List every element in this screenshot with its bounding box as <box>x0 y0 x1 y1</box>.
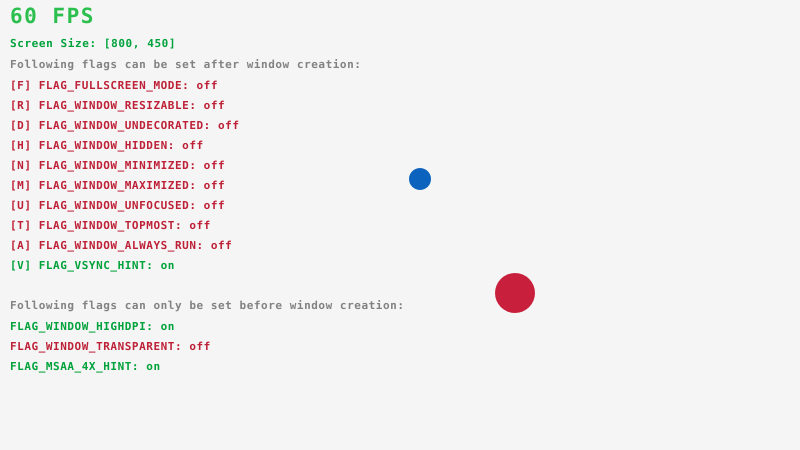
flag-row-flag-window-unfocused[interactable]: [U] FLAG_WINDOW_UNFOCUSED: off <box>10 199 225 212</box>
flag-label: [R] FLAG_WINDOW_RESIZABLE: off <box>10 99 225 112</box>
section-heading-after-creation: Following flags can be set after window … <box>10 58 361 71</box>
fps-counter: 60 FPS <box>10 3 95 29</box>
flag-label: [N] FLAG_WINDOW_MINIMIZED: off <box>10 159 225 172</box>
flag-row-flag-window-topmost[interactable]: [T] FLAG_WINDOW_TOPMOST: off <box>10 219 211 232</box>
flag-label: FLAG_WINDOW_TRANSPARENT: off <box>10 340 211 353</box>
flag-row-flag-window-highdpi[interactable]: FLAG_WINDOW_HIGHDPI: on <box>10 320 175 333</box>
screen-size-label: Screen Size: [800, 450] <box>10 37 176 50</box>
flag-label: [M] FLAG_WINDOW_MAXIMIZED: off <box>10 179 225 192</box>
flag-label: [F] FLAG_FULLSCREEN_MODE: off <box>10 79 218 92</box>
flag-row-flag-window-maximized[interactable]: [M] FLAG_WINDOW_MAXIMIZED: off <box>10 179 225 192</box>
flag-label: FLAG_MSAA_4X_HINT: on <box>10 360 161 373</box>
flag-row-flag-window-minimized[interactable]: [N] FLAG_WINDOW_MINIMIZED: off <box>10 159 225 172</box>
flag-row-flag-window-always-run[interactable]: [A] FLAG_WINDOW_ALWAYS_RUN: off <box>10 239 232 252</box>
flag-label: [U] FLAG_WINDOW_UNFOCUSED: off <box>10 199 225 212</box>
flag-row-flag-fullscreen-mode[interactable]: [F] FLAG_FULLSCREEN_MODE: off <box>10 79 218 92</box>
bouncing-ball-red <box>495 273 535 313</box>
flag-label: [A] FLAG_WINDOW_ALWAYS_RUN: off <box>10 239 232 252</box>
section-heading-before-creation: Following flags can only be set before w… <box>10 299 405 312</box>
flag-row-flag-vsync-hint[interactable]: [V] FLAG_VSYNC_HINT: on <box>10 259 175 272</box>
flag-row-flag-window-hidden[interactable]: [H] FLAG_WINDOW_HIDDEN: off <box>10 139 204 152</box>
flag-label: [D] FLAG_WINDOW_UNDECORATED: off <box>10 119 240 132</box>
flag-row-flag-window-resizable[interactable]: [R] FLAG_WINDOW_RESIZABLE: off <box>10 99 225 112</box>
flag-row-flag-window-undecorated[interactable]: [D] FLAG_WINDOW_UNDECORATED: off <box>10 119 240 132</box>
bouncing-ball-blue <box>409 168 431 190</box>
flag-label: [V] FLAG_VSYNC_HINT: on <box>10 259 175 272</box>
flag-row-flag-window-transparent[interactable]: FLAG_WINDOW_TRANSPARENT: off <box>10 340 211 353</box>
flag-label: [T] FLAG_WINDOW_TOPMOST: off <box>10 219 211 232</box>
raylib-window-canvas[interactable]: 60 FPS Screen Size: [800, 450] Following… <box>0 0 800 450</box>
flag-row-flag-msaa-4x-hint[interactable]: FLAG_MSAA_4X_HINT: on <box>10 360 161 373</box>
flag-label: FLAG_WINDOW_HIGHDPI: on <box>10 320 175 333</box>
flag-label: [H] FLAG_WINDOW_HIDDEN: off <box>10 139 204 152</box>
